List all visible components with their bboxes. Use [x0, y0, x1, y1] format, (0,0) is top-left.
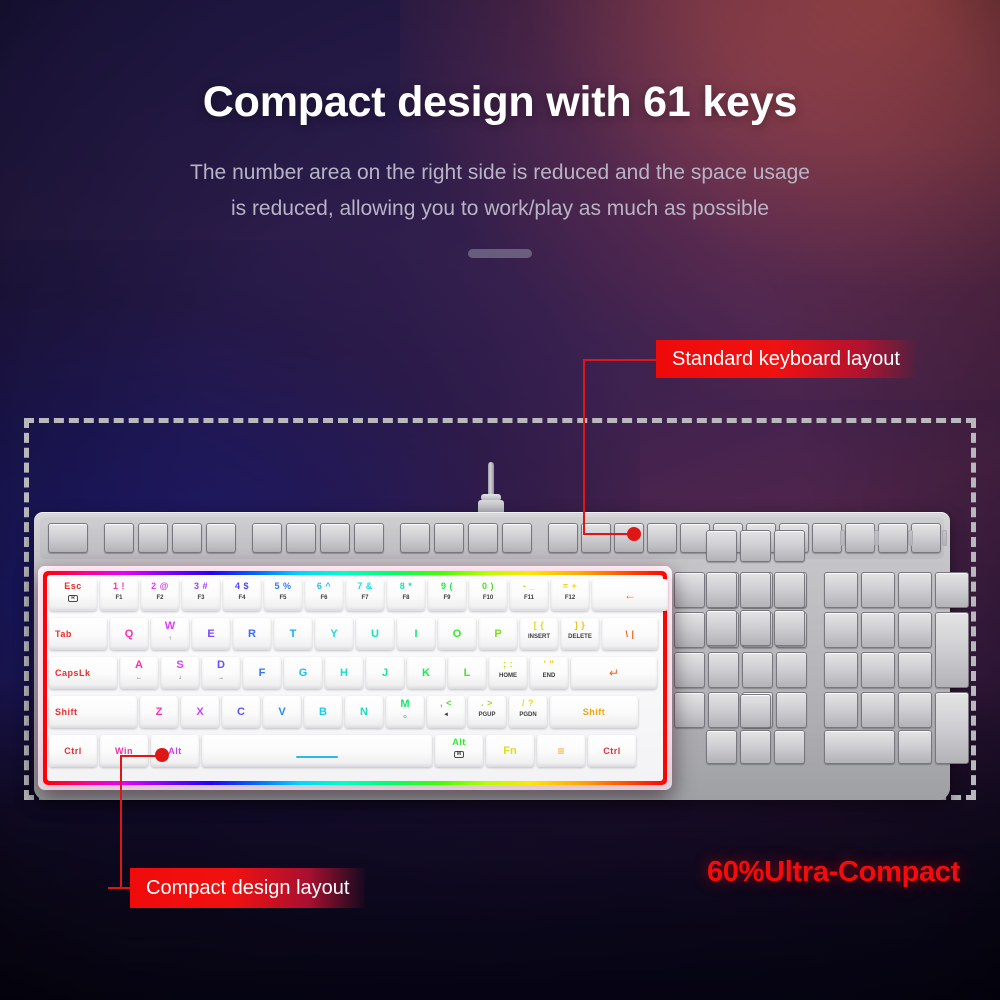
key-sublegend: F1 — [115, 595, 122, 601]
function-key — [468, 523, 498, 553]
key-legend: Shift — [583, 708, 606, 717]
key-legend: M — [400, 699, 409, 710]
nav-key — [740, 530, 771, 562]
key-legend: 5 % — [274, 582, 291, 591]
key-legend: P — [494, 629, 501, 640]
nav-key — [740, 572, 771, 608]
key-legend: V — [278, 707, 285, 718]
callout-top-leader-horizontal — [583, 359, 658, 361]
key-row: CtrlWinAltAltMFn≡Ctrl — [47, 733, 663, 769]
key-sublegend: ◄ — [443, 712, 449, 718]
key-legend: N — [360, 707, 368, 718]
numpad-key — [861, 652, 895, 688]
key-o[interactable]: O — [438, 618, 476, 650]
nav-key — [706, 530, 737, 562]
key-sublegend: INSERT — [528, 634, 550, 640]
key-a[interactable]: A← — [120, 657, 158, 689]
key-sublegend: F7 — [361, 595, 368, 601]
key-e[interactable]: E — [192, 618, 230, 650]
function-key — [138, 523, 168, 553]
header: Compact design with 61 keys The number a… — [0, 78, 1000, 258]
key-legend: G — [299, 668, 308, 679]
key-row: CapsLkA←S↓D→FGHJKL; :HOME' "END↵ — [47, 655, 663, 691]
key-legend: O — [453, 629, 462, 640]
function-key — [878, 523, 908, 553]
key-legend: 4 $ — [235, 582, 249, 591]
key-m[interactable]: M☼ — [386, 696, 424, 728]
key-legend: L — [464, 668, 471, 679]
callout-top-leader-vertical — [583, 359, 585, 534]
full-keyboard-key — [674, 652, 705, 688]
full-keyboard-key — [776, 692, 807, 728]
key-fn[interactable]: Fn — [486, 735, 534, 767]
key-sublegend: F2 — [156, 595, 163, 601]
key-legend: U — [371, 629, 379, 640]
key-2[interactable]: 2 @F2 — [141, 579, 179, 611]
key-row: TabQW↑ERTYUIOP[ {INSERT] }DELETE\ | — [47, 616, 663, 652]
function-key — [354, 523, 384, 553]
callout-standard-layout: Standard keyboard layout — [656, 340, 916, 378]
key-win[interactable]: Win — [100, 735, 148, 767]
key-sym[interactable]: = +F12 — [551, 579, 589, 611]
key-8[interactable]: 8 *F8 — [387, 579, 425, 611]
key-legend: 2 @ — [151, 582, 169, 591]
key-legend: ] } — [575, 621, 586, 630]
numpad-key — [898, 652, 932, 688]
key-legend: R — [248, 629, 256, 640]
ultra-compact-label: 60%Ultra-Compact — [707, 856, 960, 889]
key-sublegend: F8 — [402, 595, 409, 601]
function-key — [172, 523, 202, 553]
numpad-key — [861, 692, 895, 728]
key-legend: / ? — [522, 699, 534, 708]
key-t[interactable]: T — [274, 618, 312, 650]
callout-compact-layout: Compact design layout — [130, 868, 365, 908]
key-sublegend: F9 — [443, 595, 450, 601]
function-key — [845, 523, 875, 553]
key-legend: H — [340, 668, 348, 679]
key-legend: Tab — [55, 630, 72, 639]
key-legend: = + — [563, 582, 578, 591]
key-sublegend: F3 — [197, 595, 204, 601]
key-legend: I — [414, 629, 417, 640]
key-legend: Ctrl — [64, 747, 82, 756]
key-legend: Q — [125, 629, 134, 640]
key-sym[interactable]: ← — [592, 579, 668, 611]
numpad-key — [824, 692, 858, 728]
key-shift[interactable]: Shift — [49, 696, 137, 728]
function-key — [647, 523, 677, 553]
key-7[interactable]: 7 &F7 — [346, 579, 384, 611]
numpad-key — [824, 612, 858, 648]
key-sublegend: PGUP — [478, 712, 495, 718]
key-sym[interactable]: [ {INSERT — [520, 618, 558, 650]
function-key — [502, 523, 532, 553]
nav-key — [774, 572, 805, 608]
key-u[interactable]: U — [356, 618, 394, 650]
key-9[interactable]: 9 (F9 — [428, 579, 466, 611]
key-alt[interactable]: AltM — [435, 735, 483, 767]
key-sym[interactable]: , <◄ — [427, 696, 465, 728]
numpad-key — [824, 652, 858, 688]
numpad-key — [861, 612, 895, 648]
key-legend: D — [217, 660, 225, 671]
key-legend: , < — [440, 699, 452, 708]
key-sym[interactable]: \ | — [602, 618, 658, 650]
key-5[interactable]: 5 %F5 — [264, 579, 302, 611]
subtitle-line-1: The number area on the right side is red… — [0, 155, 1000, 191]
key-legend: 1 ! — [113, 582, 125, 591]
full-keyboard-key — [742, 652, 773, 688]
key-0[interactable]: 0 )F10 — [469, 579, 507, 611]
key-legend: [ { — [534, 621, 545, 630]
key-sublegend: F5 — [279, 595, 286, 601]
key-shift[interactable]: Shift — [550, 696, 638, 728]
function-key — [434, 523, 464, 553]
key-sublegend: END — [543, 673, 556, 679]
arrow-up-key — [740, 694, 771, 728]
key-sym[interactable]: ; :HOME — [489, 657, 527, 689]
indicator-led — [874, 530, 879, 546]
indicator-led — [840, 530, 845, 546]
key-z[interactable]: Z — [140, 696, 178, 728]
key-tab[interactable]: Tab — [49, 618, 107, 650]
key-h[interactable]: H — [325, 657, 363, 689]
key-legend: Alt — [452, 738, 466, 747]
key-sublegend: F12 — [565, 595, 575, 601]
full-keyboard-key — [708, 652, 739, 688]
key-sym[interactable]: ] }DELETE — [561, 618, 599, 650]
key-legend: 0 ) — [482, 582, 494, 591]
key-legend: J — [382, 668, 388, 679]
numpad-enter-key — [935, 692, 969, 764]
key-legend: . > — [481, 699, 493, 708]
arrow-left-key — [706, 730, 737, 764]
key-sublegend: F6 — [320, 595, 327, 601]
key-sym[interactable]: ' "END — [530, 657, 568, 689]
key-legend: Fn — [503, 746, 516, 757]
numpad-key — [898, 572, 932, 608]
key-1[interactable]: 1 !F1 — [100, 579, 138, 611]
key-w[interactable]: W↑ — [151, 618, 189, 650]
key-sym[interactable]: ↵ — [571, 657, 657, 689]
key-legend: 9 ( — [441, 582, 453, 591]
function-key — [581, 523, 611, 553]
function-key — [206, 523, 236, 553]
key-n[interactable]: N — [345, 696, 383, 728]
key-legend: B — [319, 707, 327, 718]
key-d[interactable]: D→ — [202, 657, 240, 689]
callout-bottom-dot — [155, 748, 169, 762]
numpad-key — [935, 572, 969, 608]
rgb-underglow: EscR1 !F12 @F23 #F34 $F45 %F56 ^F67 &F78… — [43, 571, 667, 785]
key-sublegend: HOME — [499, 673, 517, 679]
function-key — [252, 523, 282, 553]
key-j[interactable]: J — [366, 657, 404, 689]
key-legend: ← — [624, 589, 636, 601]
key-legend: Y — [330, 629, 337, 640]
key-legend: Ctrl — [603, 747, 621, 756]
key-legend: 7 & — [357, 582, 373, 591]
key-3[interactable]: 3 #F3 — [182, 579, 220, 611]
key-row: ShiftZXCVBNM☼, <◄. >PGUP/ ?PGDNShift — [47, 694, 663, 730]
full-keyboard-key — [674, 572, 705, 608]
compact-keyboard-plate: EscR1 !F12 @F23 #F34 $F45 %F56 ^F67 &F78… — [47, 575, 663, 781]
nav-key — [706, 572, 737, 608]
function-key — [104, 523, 134, 553]
full-keyboard-key — [674, 612, 705, 648]
callout-compact-layout-label: Compact design layout — [146, 877, 349, 900]
product-banner: Compact design with 61 keys The number a… — [0, 0, 1000, 1000]
key-legend: - _ — [523, 582, 535, 591]
arrow-down-key — [740, 730, 771, 764]
spacebar-indicator — [296, 756, 338, 758]
key-legend: ↵ — [609, 667, 619, 679]
key-legend: ; : — [503, 660, 513, 669]
numpad-dot-key — [898, 730, 932, 764]
callout-top-leader-foot — [583, 533, 633, 535]
key-legend: CapsLk — [55, 669, 91, 678]
key-sublegend: F11 — [524, 595, 534, 601]
key-legend: Alt — [168, 747, 182, 756]
key-legend: S — [176, 660, 183, 671]
key-legend: 6 ^ — [317, 582, 331, 591]
key-legend: K — [422, 668, 430, 679]
key-l[interactable]: L — [448, 657, 486, 689]
key-esc[interactable]: EscR — [49, 579, 97, 611]
callout-top-dot — [627, 527, 641, 541]
key-capslk[interactable]: CapsLk — [49, 657, 117, 689]
key-sublegend: DELETE — [568, 634, 592, 640]
divider-pill — [468, 249, 532, 258]
key-legend: X — [196, 707, 203, 718]
function-key — [400, 523, 430, 553]
key-sublegend: F10 — [483, 595, 493, 601]
key-sublegend: PGDN — [519, 712, 536, 718]
key-q[interactable]: Q — [110, 618, 148, 650]
function-key — [286, 523, 316, 553]
key-legend: ≡ — [557, 745, 564, 757]
key-legend: F — [259, 668, 266, 679]
key-legend: E — [207, 629, 214, 640]
key-sublegend: ← — [136, 675, 142, 681]
key-ctrl[interactable]: Ctrl — [588, 735, 636, 767]
key-legend: Z — [156, 707, 163, 718]
function-key — [320, 523, 350, 553]
key-sym[interactable]: . >PGUP — [468, 696, 506, 728]
key-s[interactable]: S↓ — [161, 657, 199, 689]
key-sublegend: → — [218, 675, 224, 681]
key-legend: 8 * — [400, 582, 413, 591]
key-sym[interactable]: / ?PGDN — [509, 696, 547, 728]
arrow-right-key — [774, 730, 805, 764]
key-ctrl[interactable]: Ctrl — [49, 735, 97, 767]
key-sublegend: M — [454, 751, 464, 758]
key-legend: Esc — [64, 582, 82, 591]
key-legend: ' " — [544, 660, 554, 669]
key-sublegend: R — [68, 595, 78, 602]
full-keyboard-key — [674, 692, 705, 728]
full-keyboard-key — [708, 692, 739, 728]
key-f[interactable]: F — [243, 657, 281, 689]
key-i[interactable]: I — [397, 618, 435, 650]
key-v[interactable]: V — [263, 696, 301, 728]
key-legend: T — [290, 629, 297, 640]
key-sublegend: ☼ — [402, 714, 408, 720]
function-key — [48, 523, 88, 553]
key-x[interactable]: X — [181, 696, 219, 728]
numpad-zero-key — [824, 730, 895, 764]
indicator-led — [942, 530, 947, 546]
key-legend: 3 # — [194, 582, 208, 591]
key-sublegend: F4 — [238, 595, 245, 601]
key-sublegend: ↑ — [169, 636, 172, 642]
key-legend: Shift — [55, 708, 78, 717]
key-g[interactable]: G — [284, 657, 322, 689]
key-sym[interactable]: ≡ — [537, 735, 585, 767]
key-space[interactable] — [202, 735, 432, 767]
key-b[interactable]: B — [304, 696, 342, 728]
key-legend: A — [135, 660, 143, 671]
key-row: EscR1 !F12 @F23 #F34 $F45 %F56 ^F67 &F78… — [47, 577, 663, 613]
numpad-key — [824, 572, 858, 608]
key-legend: W — [165, 621, 175, 632]
callout-standard-layout-label: Standard keyboard layout — [672, 348, 900, 371]
key-legend: C — [237, 707, 245, 718]
key-p[interactable]: P — [479, 618, 517, 650]
numpad-key — [898, 612, 932, 648]
page-title: Compact design with 61 keys — [0, 78, 1000, 127]
function-key — [911, 523, 941, 553]
nav-key — [706, 610, 737, 646]
key-c[interactable]: C — [222, 696, 260, 728]
function-key — [812, 523, 842, 553]
key-6[interactable]: 6 ^F6 — [305, 579, 343, 611]
numpad-plus-key — [935, 612, 969, 688]
subtitle: The number area on the right side is red… — [0, 155, 1000, 227]
key-4[interactable]: 4 $F4 — [223, 579, 261, 611]
key-sym[interactable]: - _F11 — [510, 579, 548, 611]
callout-bottom-leader-vertical — [120, 755, 122, 888]
numpad-key — [898, 692, 932, 728]
nav-key — [774, 610, 805, 646]
numpad-key — [861, 572, 895, 608]
nav-key — [740, 610, 771, 646]
key-sublegend: ↓ — [179, 675, 182, 681]
key-legend: \ | — [625, 630, 634, 639]
full-keyboard-key — [776, 652, 807, 688]
subtitle-line-2: is reduced, allowing you to work/play as… — [0, 191, 1000, 227]
nav-key — [774, 530, 805, 562]
key-y[interactable]: Y — [315, 618, 353, 650]
key-r[interactable]: R — [233, 618, 271, 650]
key-k[interactable]: K — [407, 657, 445, 689]
function-key — [548, 523, 578, 553]
indicator-led — [908, 530, 913, 546]
